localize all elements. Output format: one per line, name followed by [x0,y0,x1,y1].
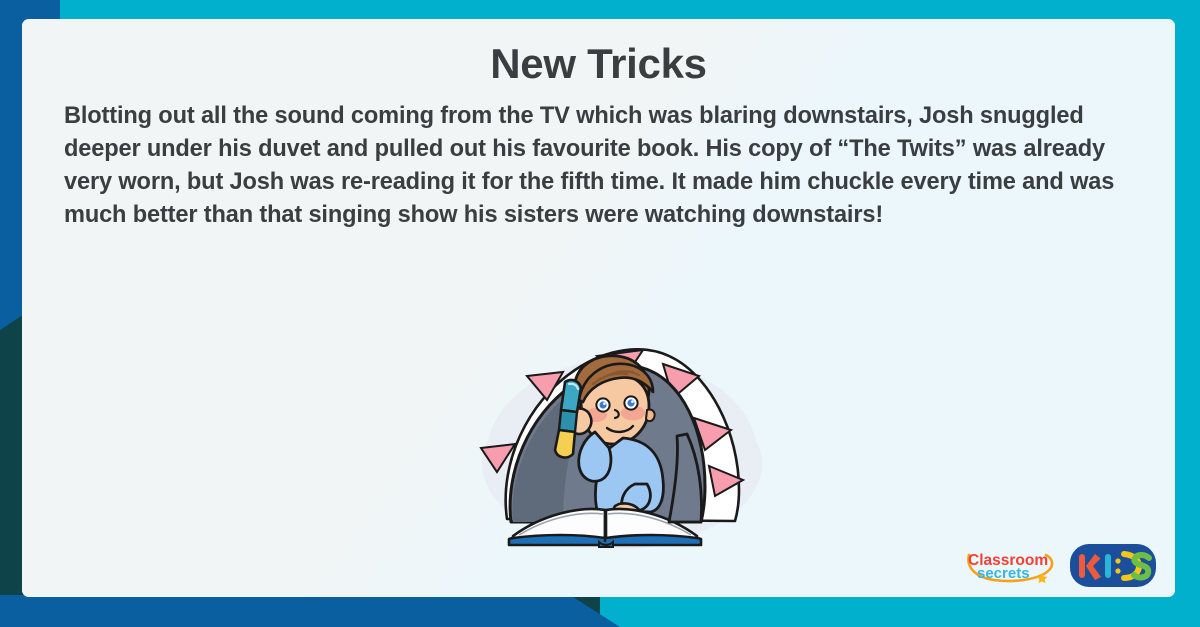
kids-logo[interactable] [1069,542,1157,589]
boy-reading-under-duvet-icon [447,314,797,549]
classroom-secrets-logo[interactable]: Classroom secrets [964,546,1056,586]
secrets-word: secrets [977,565,1030,582]
page-title: New Tricks [22,40,1175,88]
branding-row: Classroom secrets [964,542,1157,589]
activity-card: New Tricks Blotting out all the sound co… [22,19,1175,597]
star-icon [1037,573,1048,583]
kids-letter-i [1105,554,1111,578]
frame-bottom-border-left [0,595,620,627]
reading-passage: Blotting out all the sound coming from t… [64,100,1133,232]
frame-top-border [28,0,1200,19]
